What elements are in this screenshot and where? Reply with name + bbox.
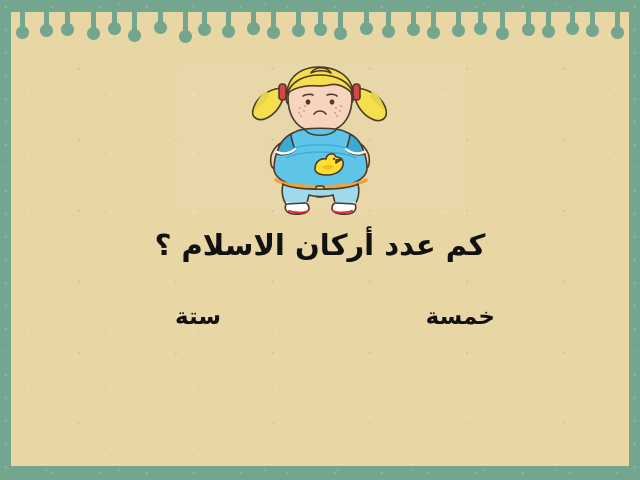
answer-options: خمسة ستة <box>11 300 629 340</box>
answer-option-khamsa[interactable]: خمسة <box>426 300 495 334</box>
answer-option-sitta[interactable]: ستة <box>175 300 221 334</box>
question-text: كم عدد أركان الاسلام ؟ <box>0 228 640 262</box>
quiz-slide: كم عدد أركان الاسلام ؟ خمسة ستة <box>0 0 640 480</box>
illustration-region <box>175 64 466 215</box>
cartoon-girl-image <box>241 64 401 215</box>
frame-border-bottom <box>0 466 640 480</box>
frame-border-top <box>0 0 640 12</box>
